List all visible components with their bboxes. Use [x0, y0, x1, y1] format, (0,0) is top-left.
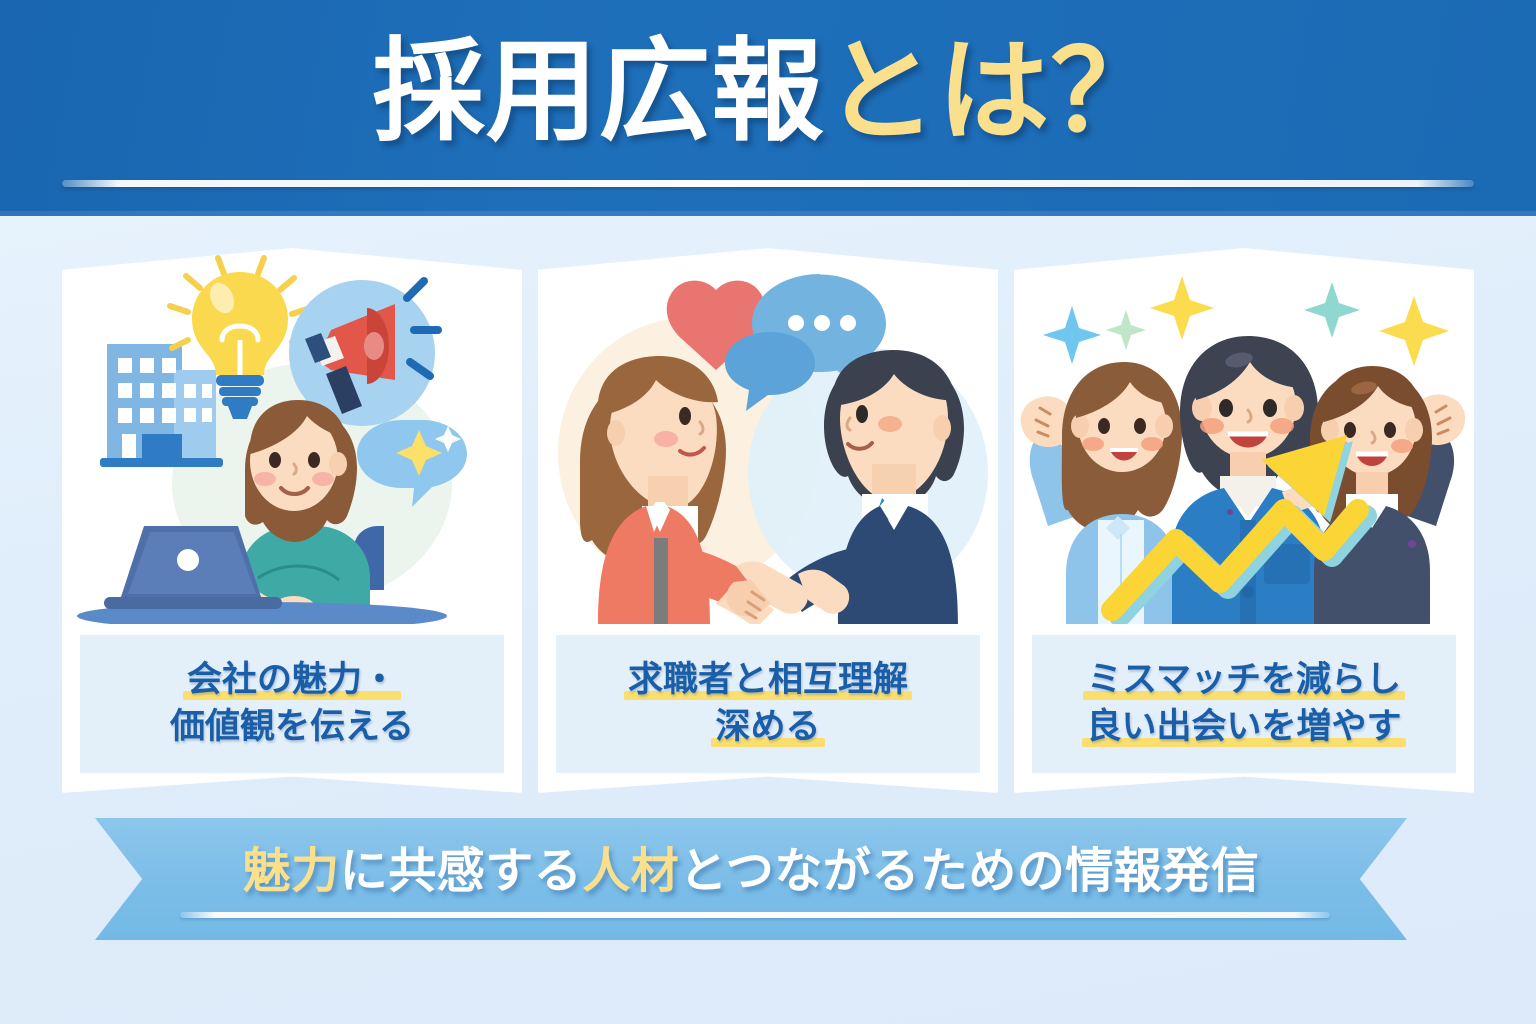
card-company-appeal[interactable]: 会社の魅力・ 価値観を伝える: [62, 248, 522, 793]
caption-line: 良い出会いを増やす: [1082, 706, 1405, 749]
ribbon-segment: する: [485, 845, 582, 898]
illustration-company-appeal: [62, 248, 522, 624]
caption-line: 価値観を伝える: [166, 706, 418, 749]
ribbon-segment: とつながるための情報発信: [679, 845, 1259, 898]
page-title-suffix: とは？: [825, 29, 1164, 154]
infographic-root: 採用広報とは？: [0, 0, 1536, 1024]
card-row: 会社の魅力・ 価値観を伝える: [0, 248, 1536, 800]
bottom-ribbon-text: 魅力に共感する人材とつながるための情報発信: [243, 848, 1260, 896]
illustration-mutual-understanding: [538, 248, 998, 624]
caption-mutual-understanding: 求職者と相互理解 深める: [556, 635, 980, 773]
office-building-icon: [100, 344, 223, 467]
page-title: 採用広報とは？: [0, 26, 1536, 158]
caption-line: ミスマッチを減らし: [1083, 659, 1405, 702]
header-band: 採用広報とは？: [0, 0, 1536, 216]
card-reduce-mismatch[interactable]: ミスマッチを減らし 良い出会いを増やす: [1014, 248, 1474, 793]
caption-line: 深める: [711, 706, 824, 749]
ribbon-segment: 人材: [582, 845, 679, 898]
caption-line: 求職者と相互理解: [624, 659, 912, 702]
card-mutual-understanding[interactable]: 求職者と相互理解 深める: [538, 248, 998, 793]
ribbon-underline-rule: [180, 912, 1330, 918]
bottom-ribbon-banner: 魅力に共感する人材とつながるための情報発信: [95, 818, 1407, 940]
caption-company-appeal: 会社の魅力・ 価値観を伝える: [80, 635, 504, 773]
ribbon-segment: に共感: [340, 845, 486, 898]
caption-line: 会社の魅力・: [183, 659, 401, 702]
ribbon-segment: 魅力: [243, 845, 340, 898]
page-title-main: 採用広報: [373, 29, 825, 154]
header-underline-rule: [62, 180, 1474, 187]
illustration-reduce-mismatch: [1014, 248, 1474, 624]
caption-reduce-mismatch: ミスマッチを減らし 良い出会いを増やす: [1032, 635, 1456, 773]
